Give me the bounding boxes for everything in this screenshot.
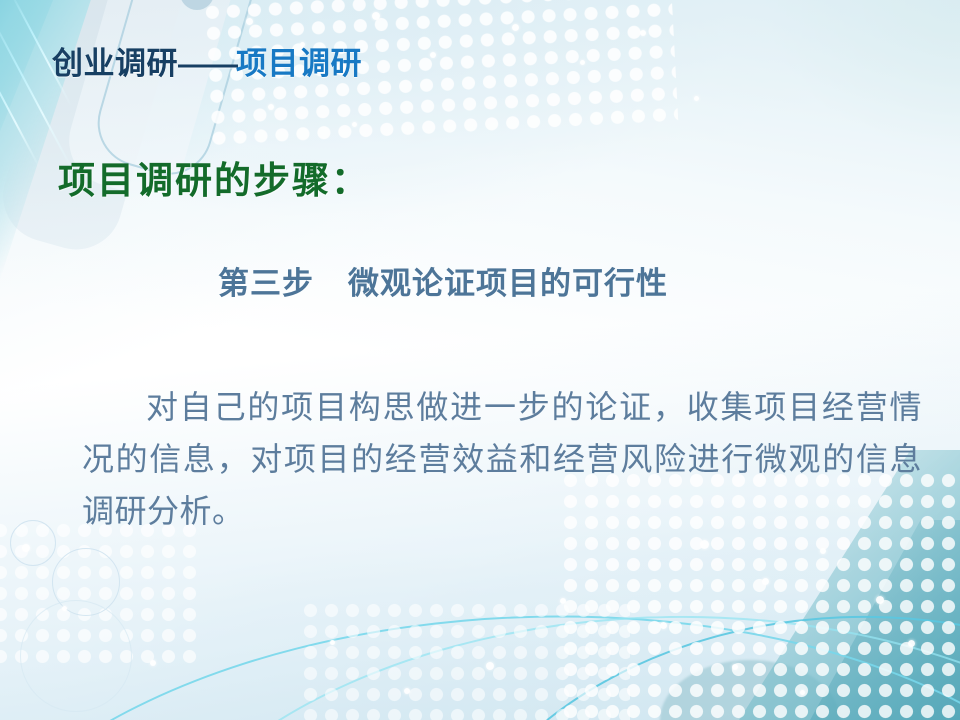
step-text: 微观论证项目的可行性 <box>348 266 668 301</box>
slide-title-accent: 项目调研 <box>236 46 362 81</box>
step-label: 第三步 <box>218 266 314 301</box>
slide-title-dash: —— <box>178 46 236 81</box>
step-heading: 第三步微观论证项目的可行性 <box>218 258 668 303</box>
slide-content: 创业调研——项目调研 项目调研的步骤： 第三步微观论证项目的可行性 对自己的项目… <box>0 0 960 720</box>
presentation-slide: 创业调研——项目调研 项目调研的步骤： 第三步微观论证项目的可行性 对自己的项目… <box>0 0 960 720</box>
body-paragraph: 对自己的项目构思做进一步的论证，收集项目经营情况的信息，对项目的经营效益和经营风… <box>82 382 922 537</box>
slide-title-main: 创业调研 <box>52 46 178 81</box>
slide-title: 创业调研——项目调研 <box>52 46 362 82</box>
section-heading: 项目调研的步骤： <box>58 150 370 204</box>
